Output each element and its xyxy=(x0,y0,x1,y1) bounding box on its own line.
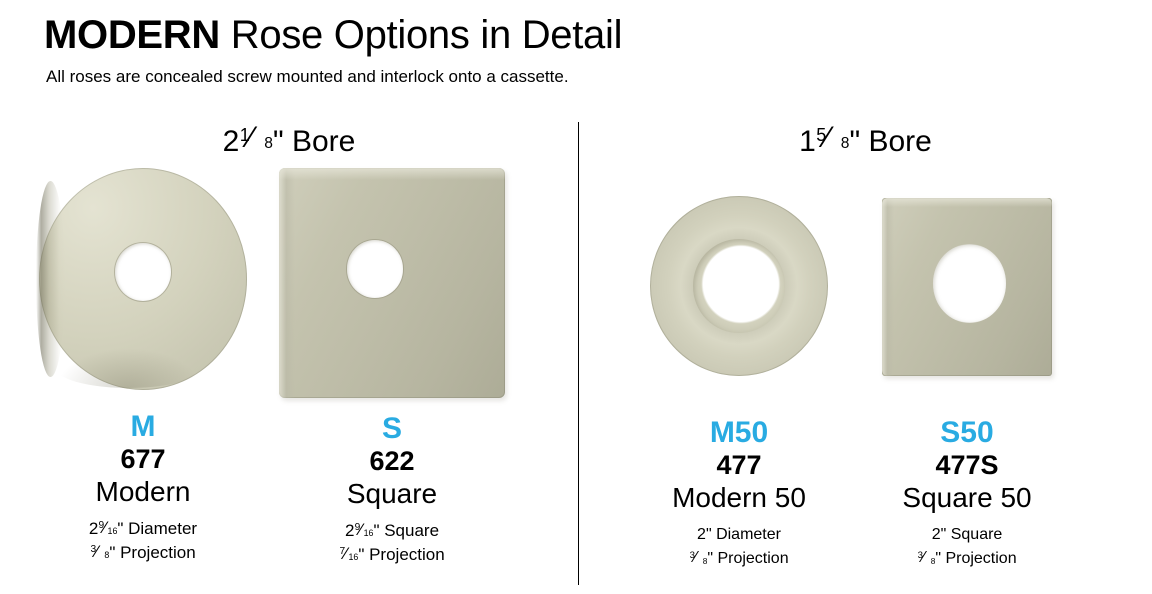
fraction-denominator: 16 xyxy=(108,519,118,543)
spec-whole: 2 xyxy=(697,526,706,543)
fraction-slash: ⁄ xyxy=(360,518,363,542)
product-spec-projection: 3⁄8" Projection xyxy=(877,547,1057,571)
group-heading-suffix: " Bore xyxy=(273,125,355,158)
group-heading-bore-1-5-8: 15⁄8" Bore xyxy=(579,121,1152,161)
product-sku: 477 xyxy=(649,450,829,481)
group-heading-fraction: 1⁄8 xyxy=(239,121,273,151)
group-heading-suffix: " Bore xyxy=(849,125,931,158)
spec-whole: 2 xyxy=(932,526,941,543)
spec-fraction: 7⁄16 xyxy=(339,543,358,560)
fraction-slash: ⁄ xyxy=(344,542,347,566)
product-image-s50-477s xyxy=(882,198,1052,376)
spec-fraction: 3⁄8 xyxy=(689,547,707,563)
spec-suffix: " Square xyxy=(941,526,1003,543)
fraction-denominator: 16 xyxy=(349,545,359,569)
product-card-s50-477s[interactable]: S50 477S Square 50 2" Square 3⁄8" Projec… xyxy=(877,198,1057,571)
product-labels-m-677: M 677 Modern 29⁄16" Diameter 3⁄8" Projec… xyxy=(23,410,263,565)
product-spec-projection: 7⁄16" Projection xyxy=(272,543,512,567)
spec-fraction: 3⁄8 xyxy=(917,547,935,563)
fraction-denominator: 8 xyxy=(841,125,850,163)
product-spec-projection: 3⁄8" Projection xyxy=(649,547,829,571)
spec-fraction: 9⁄16 xyxy=(354,519,373,536)
spec-suffix: " Projection xyxy=(935,550,1016,567)
spec-suffix: " Square xyxy=(373,521,439,540)
spec-suffix: " Projection xyxy=(109,543,195,562)
product-image-m50-477 xyxy=(650,196,828,376)
fraction-denominator: 16 xyxy=(364,521,374,545)
product-image-m-677 xyxy=(39,168,247,390)
fraction-denominator: 8 xyxy=(264,125,273,163)
spec-suffix: " Projection xyxy=(358,545,444,564)
product-labels-s-622: S 622 Square 29⁄16" Square 7⁄16" Project… xyxy=(272,412,512,567)
product-name: Square xyxy=(272,477,512,511)
product-card-m50-477[interactable]: M50 477 Modern 50 2" Diameter 3⁄8" Proje… xyxy=(649,196,829,571)
product-code: M xyxy=(23,410,263,444)
product-code: S xyxy=(272,412,512,446)
spec-suffix: " Diameter xyxy=(117,519,197,538)
spec-suffix: " Diameter xyxy=(706,526,781,543)
product-spec-dimension: 2" Square xyxy=(877,523,1057,547)
group-heading-whole: 1 xyxy=(799,125,816,158)
spec-fraction: 9⁄16 xyxy=(98,517,117,534)
product-image-s-622 xyxy=(279,168,505,398)
product-sku: 477S xyxy=(877,450,1057,481)
fraction-slash: ⁄ xyxy=(248,119,253,157)
spec-whole: 2 xyxy=(345,521,354,540)
page-title: MODERN Rose Options in Detail xyxy=(44,12,622,58)
page-title-rest: Rose Options in Detail xyxy=(220,13,622,57)
product-sku: 677 xyxy=(23,444,263,475)
product-name: Modern 50 xyxy=(649,481,829,515)
product-name: Square 50 xyxy=(877,481,1057,515)
product-spec-dimension: 2" Diameter xyxy=(649,523,829,547)
spec-suffix: " Projection xyxy=(707,550,788,567)
group-heading-whole: 2 xyxy=(223,125,240,158)
round-rose-shape xyxy=(39,168,247,390)
product-code: M50 xyxy=(649,416,829,450)
page-subtitle: All roses are concealed screw mounted an… xyxy=(46,66,569,88)
bore-inner-ring xyxy=(693,239,786,333)
product-name: Modern xyxy=(23,475,263,509)
fraction-slash: ⁄ xyxy=(922,546,925,570)
spec-fraction: 3⁄8 xyxy=(90,541,109,558)
fraction-slash: ⁄ xyxy=(825,119,830,157)
vertical-divider xyxy=(578,122,579,585)
spec-whole: 2 xyxy=(89,519,98,538)
fraction-denominator: 8 xyxy=(104,543,109,567)
fraction-slash: ⁄ xyxy=(103,516,106,540)
product-spec-dimension: 29⁄16" Diameter xyxy=(23,517,263,541)
bore-hole xyxy=(347,240,404,298)
fraction-slash: ⁄ xyxy=(694,546,697,570)
fraction-slash: ⁄ xyxy=(95,540,98,564)
page-title-strong: MODERN xyxy=(44,13,220,57)
product-sku: 622 xyxy=(272,446,512,477)
product-labels-m50-477: M50 477 Modern 50 2" Diameter 3⁄8" Proje… xyxy=(649,416,829,571)
product-labels-s50-477s: S50 477S Square 50 2" Square 3⁄8" Projec… xyxy=(877,416,1057,571)
group-heading-bore-2-1-8: 21⁄8" Bore xyxy=(0,121,578,161)
product-spec-projection: 3⁄8" Projection xyxy=(23,541,263,565)
group-heading-fraction: 5⁄8 xyxy=(816,121,850,151)
product-card-m-677[interactable]: M 677 Modern 29⁄16" Diameter 3⁄8" Projec… xyxy=(23,168,263,565)
bore-hole xyxy=(933,244,1006,322)
square-rose-shape xyxy=(279,168,505,398)
product-spec-dimension: 29⁄16" Square xyxy=(272,519,512,543)
product-card-s-622[interactable]: S 622 Square 29⁄16" Square 7⁄16" Project… xyxy=(272,168,512,567)
square50-rose-shape xyxy=(882,198,1052,376)
fraction-denominator: 8 xyxy=(931,549,936,573)
fraction-denominator: 8 xyxy=(703,549,708,573)
donut-rose-shape xyxy=(650,196,828,376)
bore-hole xyxy=(115,243,171,301)
product-code: S50 xyxy=(877,416,1057,450)
